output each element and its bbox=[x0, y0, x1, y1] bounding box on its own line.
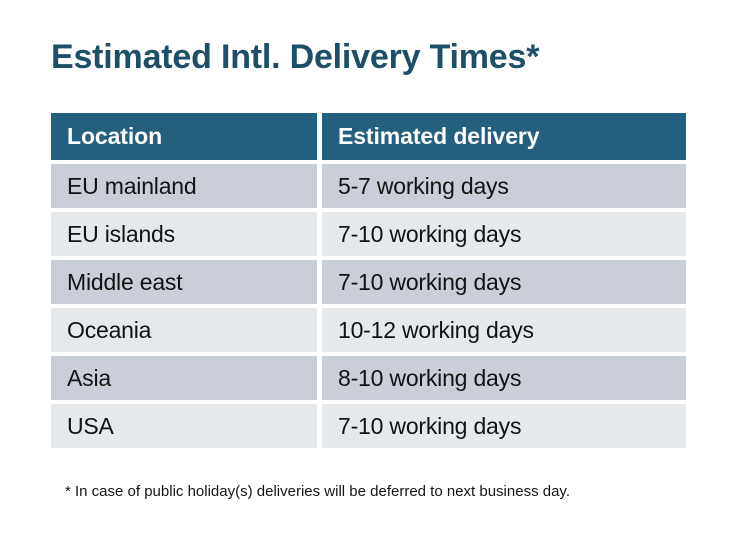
cell-location: EU islands bbox=[51, 212, 317, 256]
table-row: Middle east 7-10 working days bbox=[51, 260, 686, 304]
table-row: EU mainland 5-7 working days bbox=[51, 164, 686, 208]
delivery-times-page: Estimated Intl. Delivery Times* Location… bbox=[0, 0, 745, 536]
delivery-times-table: Location Estimated delivery EU mainland … bbox=[46, 109, 691, 452]
table-header: Location Estimated delivery bbox=[51, 113, 686, 160]
column-header-location: Location bbox=[51, 113, 317, 160]
cell-location: Asia bbox=[51, 356, 317, 400]
table-header-row: Location Estimated delivery bbox=[51, 113, 686, 160]
column-header-delivery: Estimated delivery bbox=[322, 113, 686, 160]
cell-location: Oceania bbox=[51, 308, 317, 352]
cell-location: USA bbox=[51, 404, 317, 448]
cell-delivery: 7-10 working days bbox=[322, 260, 686, 304]
footnote: * In case of public holiday(s) deliverie… bbox=[65, 482, 570, 502]
cell-delivery: 7-10 working days bbox=[322, 404, 686, 448]
cell-delivery: 10-12 working days bbox=[322, 308, 686, 352]
cell-location: Middle east bbox=[51, 260, 317, 304]
table-row: USA 7-10 working days bbox=[51, 404, 686, 448]
cell-delivery: 8-10 working days bbox=[322, 356, 686, 400]
cell-delivery: 5-7 working days bbox=[322, 164, 686, 208]
table-body: EU mainland 5-7 working days EU islands … bbox=[51, 164, 686, 448]
cell-delivery: 7-10 working days bbox=[322, 212, 686, 256]
table-row: Oceania 10-12 working days bbox=[51, 308, 686, 352]
cell-location: EU mainland bbox=[51, 164, 317, 208]
page-title: Estimated Intl. Delivery Times* bbox=[51, 36, 539, 78]
table-row: EU islands 7-10 working days bbox=[51, 212, 686, 256]
table-row: Asia 8-10 working days bbox=[51, 356, 686, 400]
